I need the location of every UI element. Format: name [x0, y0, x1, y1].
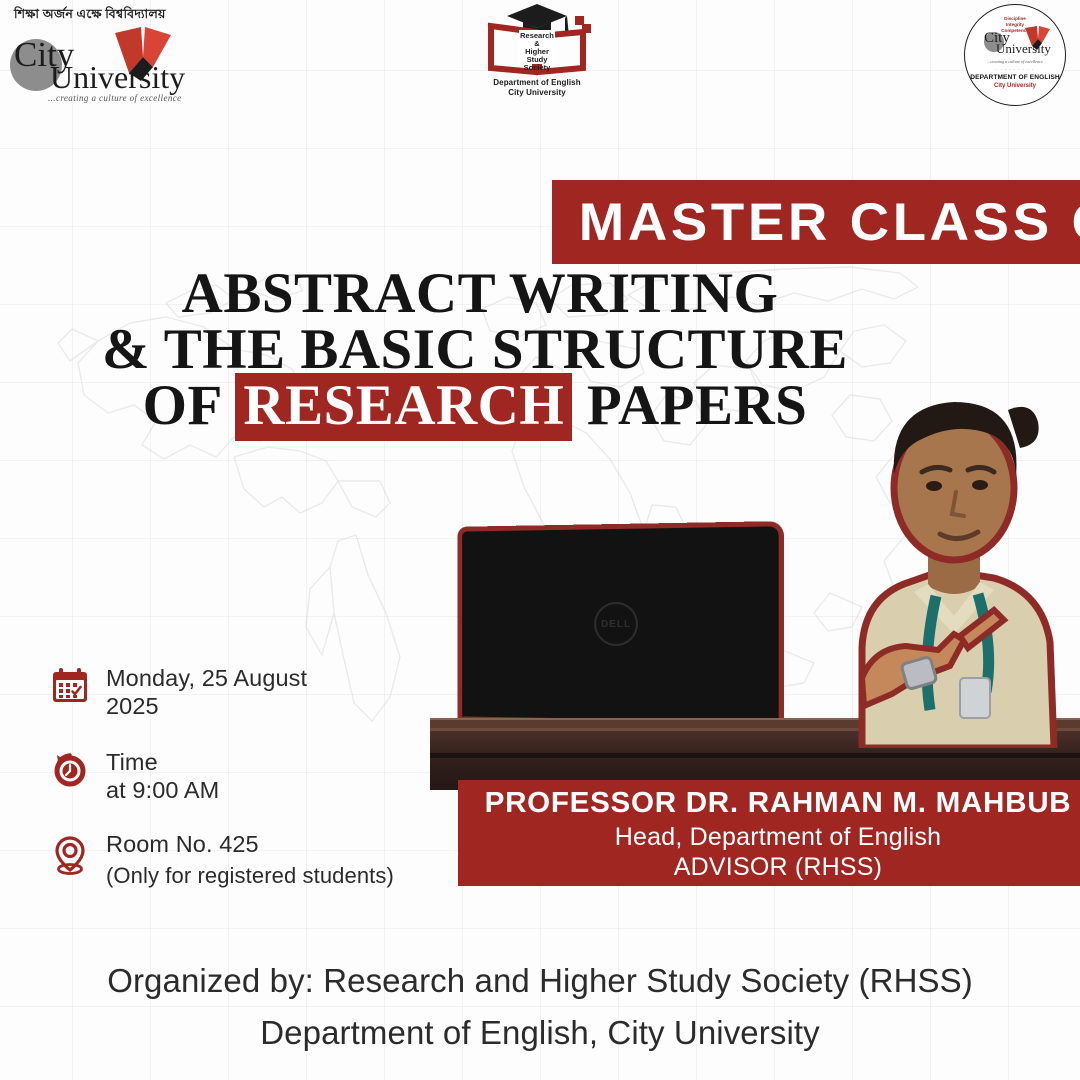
speaker-name-bar: PROFESSOR DR. RAHMAN M. MAHBUB Head, Dep… [458, 780, 1080, 886]
department-of-english-seal: DisciplineIntegrityCompetence City Unive… [964, 4, 1066, 106]
title-line-3-prefix: OF [143, 374, 236, 437]
detail-date-secondary: 2025 [106, 693, 307, 721]
event-details: Monday, 25 August 2025 Time at 9:00 AM [48, 662, 448, 915]
graduation-cap-open-book-icon: Research & Higher Study Society [479, 2, 595, 76]
detail-row-date: Monday, 25 August 2025 [48, 662, 448, 720]
seal-university-line: City University [964, 83, 1066, 89]
rhss-logo: Research & Higher Study Society Departme… [462, 2, 612, 108]
dell-logo: DELL [594, 602, 638, 646]
city-university-tagline: ...creating a culture of excellence [48, 93, 182, 103]
speaker-name: PROFESSOR DR. RAHMAN M. MAHBUB [452, 787, 1080, 820]
seal-divider: · · · · · · · · · [978, 67, 1052, 72]
header-logo-bar: শিক্ষা অর্জন এক্ষে বিশ্ববিদ্যালয় City U… [0, 0, 1080, 112]
detail-location-note: (Only for registered students) [106, 863, 394, 889]
detail-row-location: Room No. 425 (Only for registered studen… [48, 831, 448, 889]
svg-text:Society: Society [524, 63, 552, 72]
city-university-logo: শিক্ষা অর্জন এক্ষে বিশ্ববিদ্যালয় City U… [8, 6, 238, 106]
speaker-advisor: ADVISOR (RHSS) [458, 853, 1080, 882]
master-class-banner: MASTER CLASS ON [552, 180, 1080, 264]
clock-icon [48, 748, 92, 792]
location-pin-icon [48, 833, 92, 877]
seal-tagline: ...creating a culture of excellence [964, 59, 1066, 64]
footer-organizer: Organized by: Research and Higher Study … [0, 962, 1080, 1052]
footer-line-1: Organized by: Research and Higher Study … [0, 962, 1080, 1000]
poster-canvas: শিক্ষা অর্জন এক্ষে বিশ্ববিদ্যালয় City U… [0, 0, 1080, 1080]
detail-location-primary: Room No. 425 [106, 831, 259, 857]
speaker-photo [818, 350, 1080, 748]
master-class-banner-label: MASTER CLASS ON [552, 192, 1080, 253]
speaker-role: Head, Department of English [458, 823, 1080, 852]
rhss-caption-department: Department of English [462, 78, 612, 88]
detail-time-primary: Time [106, 749, 158, 775]
footer-line-2: Department of English, City University [0, 1014, 1080, 1052]
detail-date-primary: Monday, 25 August [106, 665, 307, 691]
city-university-name-university: University [50, 61, 185, 93]
calendar-icon [48, 664, 92, 708]
title-line-1: ABSTRACT WRITING [0, 266, 1080, 322]
rhss-caption-university: City University [462, 88, 612, 98]
seal-department-line: DEPARTMENT OF ENGLISH [964, 74, 1066, 81]
detail-row-time: Time at 9:00 AM [48, 746, 448, 804]
detail-time-secondary: at 9:00 AM [106, 777, 219, 805]
seal-name-university: University [996, 42, 1051, 55]
speaker-photo-composite: DELL [420, 350, 1080, 790]
laptop-lid: DELL [457, 521, 783, 727]
